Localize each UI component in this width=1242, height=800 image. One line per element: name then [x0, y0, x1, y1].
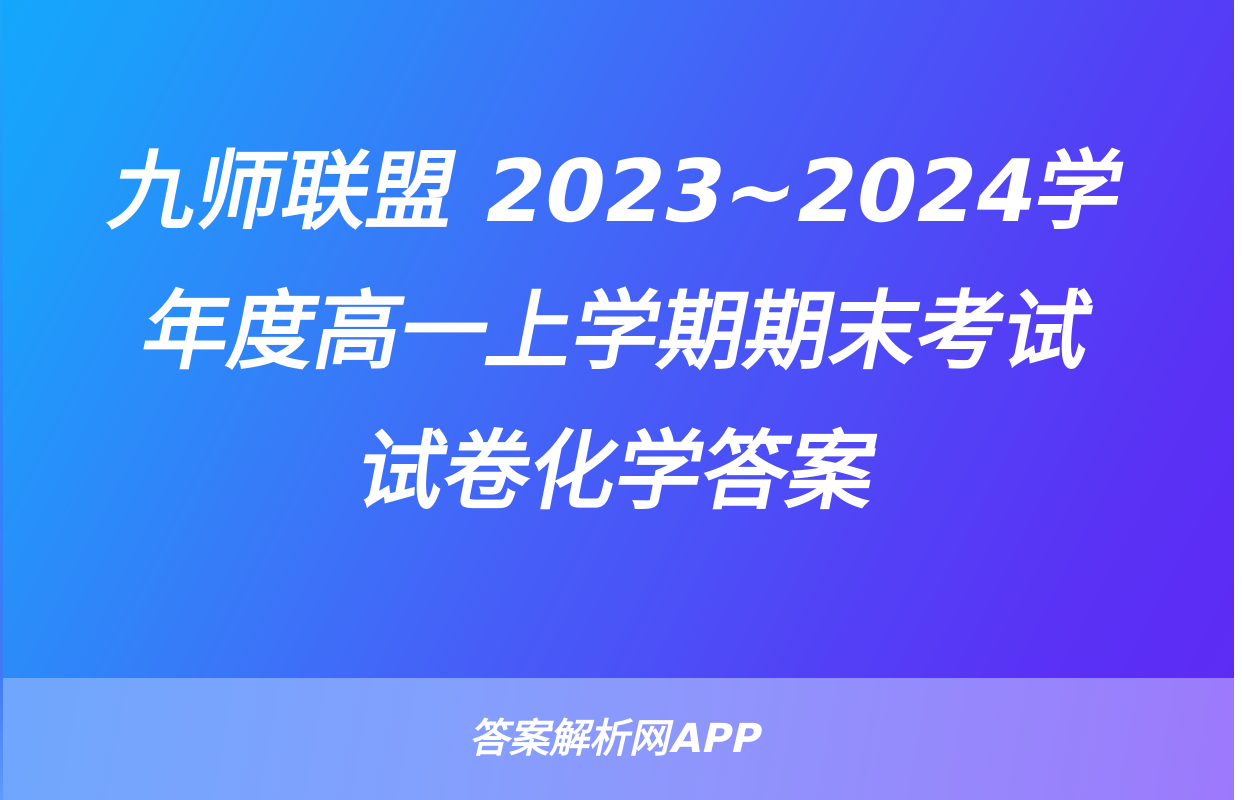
hero-gradient-banner: 九师联盟 2023~2024学 年度高一上学期期末考试 试卷化学答案 [0, 0, 1234, 678]
right-edge-margin [1234, 0, 1242, 800]
poster-card: 九师联盟 2023~2024学 年度高一上学期期末考试 试卷化学答案 答案解析网… [0, 0, 1242, 800]
footer-brand-bar: 答案解析网APP [0, 678, 1234, 800]
title-line-2: 年度高一上学期期末考试 [0, 262, 1242, 402]
footer-brand-label: 答案解析网APP [468, 719, 767, 759]
title-line-1: 九师联盟 2023~2024学 [0, 122, 1242, 262]
title-line-3: 试卷化学答案 [0, 402, 1242, 542]
left-edge-strip [0, 0, 3, 800]
hero-title-block: 九师联盟 2023~2024学 年度高一上学期期末考试 试卷化学答案 [0, 0, 1234, 678]
